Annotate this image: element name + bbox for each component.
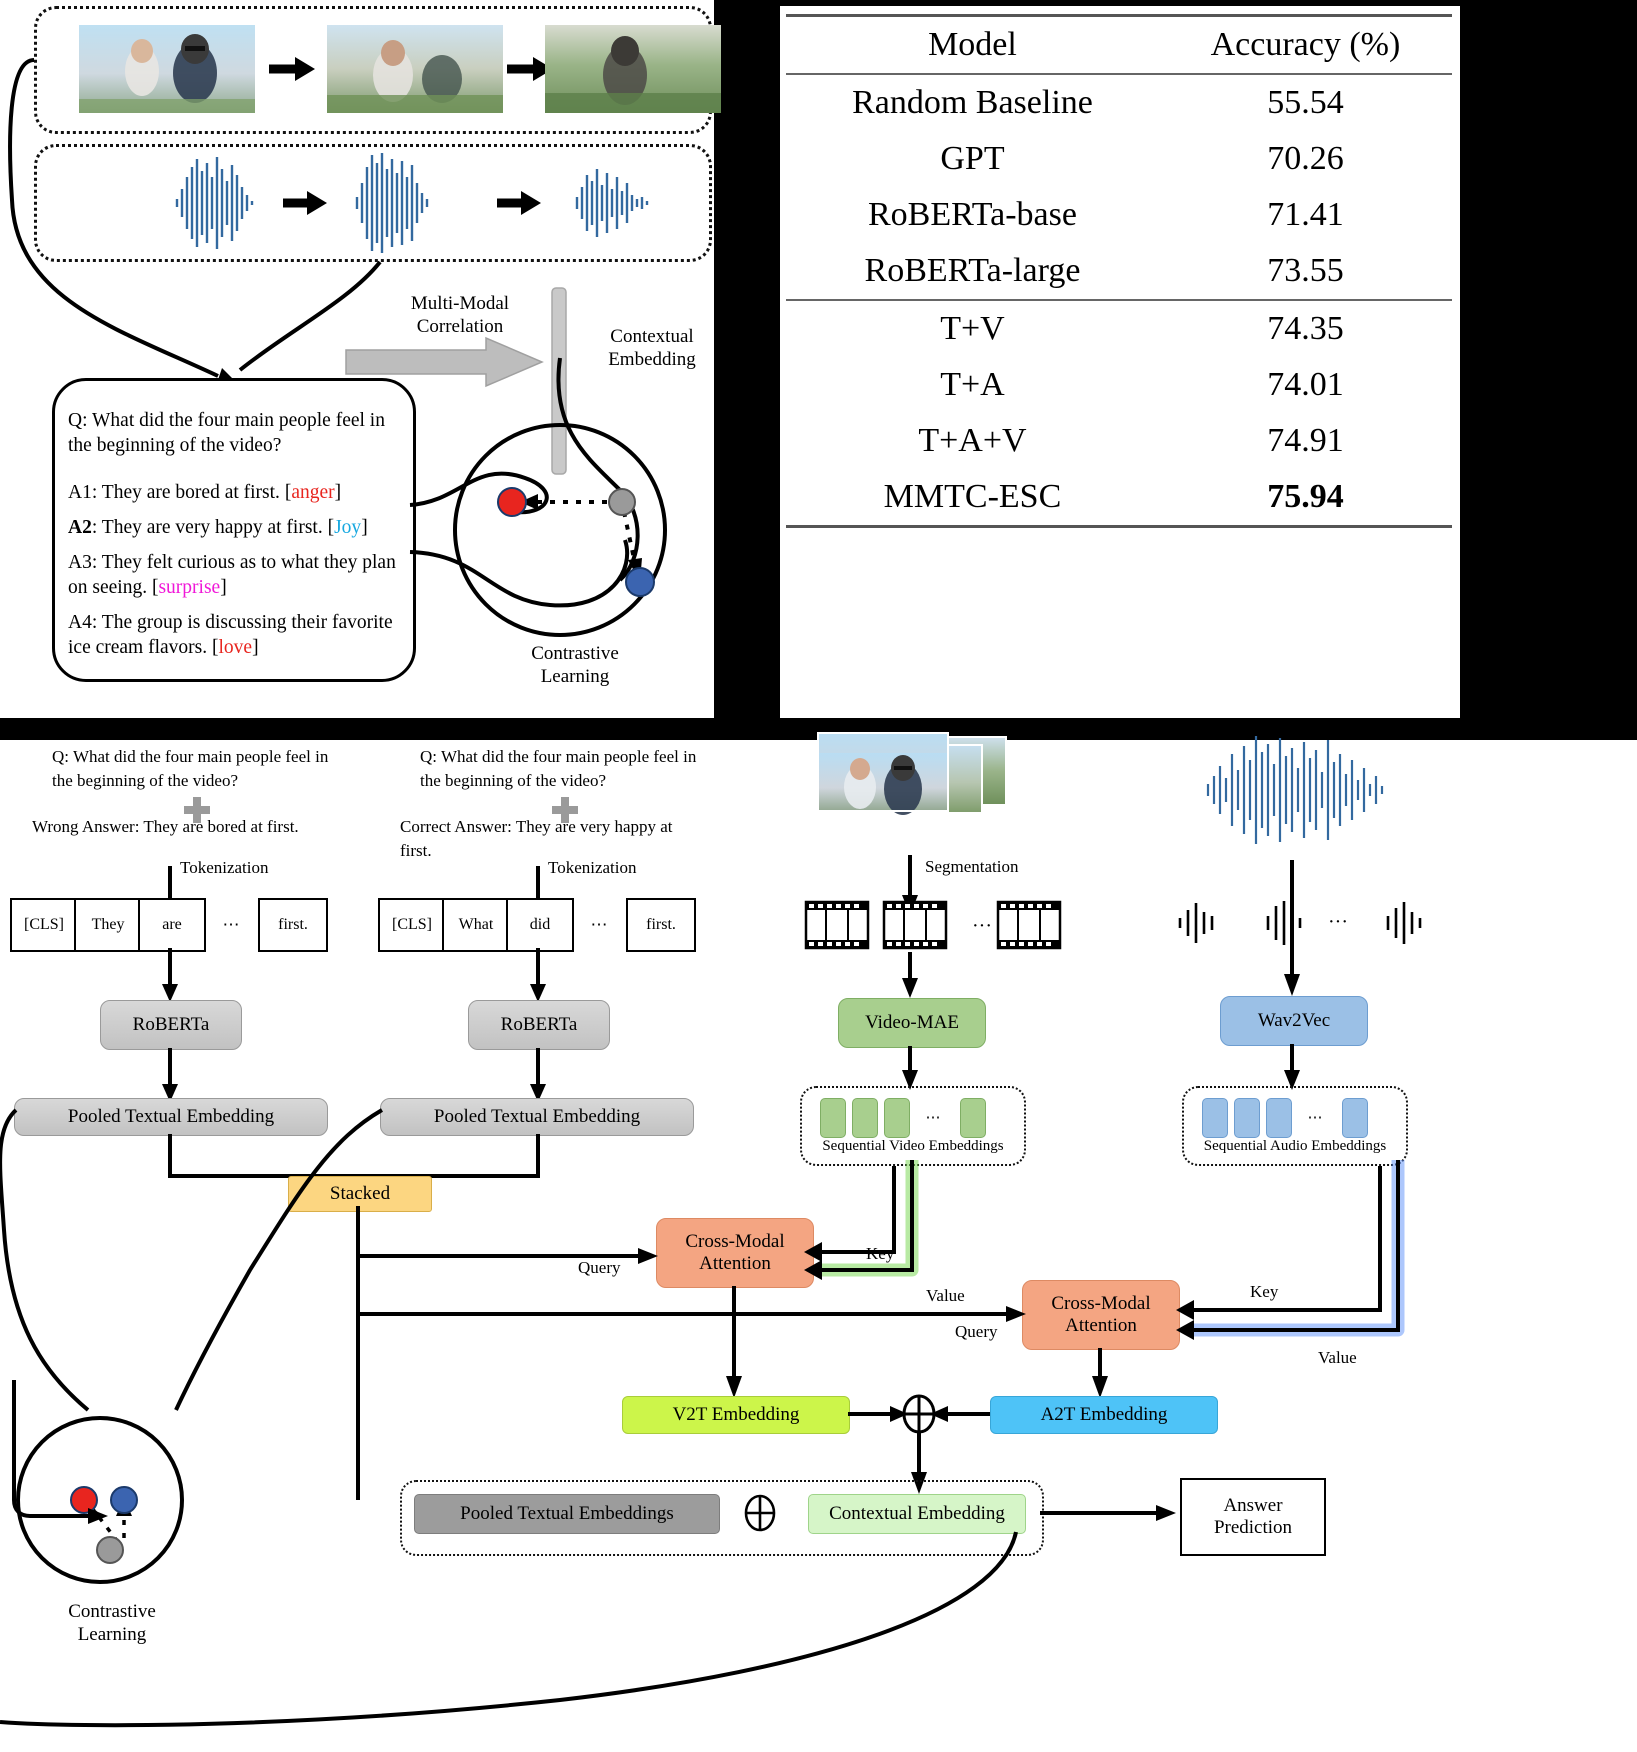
table-row: RoBERTa-large 73.55 xyxy=(786,243,1452,299)
qa-answer-3: A3: They felt curious as to what they pl… xyxy=(68,550,398,600)
answer-prediction-line2: Prediction xyxy=(1214,1517,1292,1539)
token-what-right: What xyxy=(442,898,508,952)
multimodal-correlation-label: Multi-Modal Correlation xyxy=(350,292,570,338)
qa-answer-3-text: They felt curious as to what they plan o… xyxy=(68,552,396,598)
video-mae-box: Video-MAE xyxy=(838,998,986,1048)
audio-waveform-input-icon xyxy=(1200,730,1420,850)
qa-answer-2-id: A2 xyxy=(68,517,92,538)
video-embedding-chip xyxy=(960,1098,986,1138)
table-cell-accuracy: 73.55 xyxy=(1159,243,1452,299)
table-row: RoBERTa-base 71.41 xyxy=(786,187,1452,243)
audio-embeddings-arrow-icon xyxy=(1272,1044,1312,1090)
contrastive-learning-top-line2: Learning xyxy=(490,665,660,688)
contextual-embedding-line2: Embedding xyxy=(582,348,722,371)
table-row: GPT 70.26 xyxy=(786,131,1452,187)
table-header-accuracy: Accuracy (%) xyxy=(1159,17,1452,73)
table-cell-model: RoBERTa-base xyxy=(786,187,1159,243)
token-are-left: are xyxy=(138,898,206,952)
video-embedding-chip xyxy=(820,1098,846,1138)
video-embedding-chip xyxy=(884,1098,910,1138)
sequential-video-embeddings-group: ⋯ Sequential Video Embeddings xyxy=(800,1086,1026,1166)
qa-answer-4: A4: The group is discussing their favori… xyxy=(68,610,398,660)
wav2vec-box: Wav2Vec xyxy=(1220,996,1368,1046)
table-cell-accuracy: 70.26 xyxy=(1159,131,1452,187)
right-branch-encoder-arrow-icon xyxy=(518,948,558,1002)
contextual-embedding-line1: Contextual xyxy=(582,325,722,348)
table-row: T+V 74.35 xyxy=(786,301,1452,357)
divider-right-edge xyxy=(1460,0,1637,718)
results-table: Model Accuracy (%) Random Baseline 55.54… xyxy=(786,14,1452,528)
token-first-left: first. xyxy=(258,898,328,952)
table-row: T+A+V 74.91 xyxy=(786,413,1452,469)
qa-answer-4-id: A4 xyxy=(68,612,92,633)
qa-answer-2-text: They are very happy at first. xyxy=(102,517,323,538)
answer-prediction-box: Answer Prediction xyxy=(1180,1478,1326,1556)
cross-modal-attention-2: Cross-Modal Attention xyxy=(1022,1280,1180,1350)
qa-content: Q: What did the four main people feel in… xyxy=(68,408,398,660)
table-cell-model: T+A xyxy=(786,357,1159,413)
table-cell-model: RoBERTa-large xyxy=(786,243,1159,299)
cma2-query-arrow-icon xyxy=(352,1276,1042,1336)
token-ellipsis-right: ⋯ xyxy=(578,902,620,948)
multimodal-correlation-line1: Multi-Modal xyxy=(350,292,570,315)
table-cell-model: T+A+V xyxy=(786,413,1159,469)
qa-answer-3-id: A3 xyxy=(68,552,92,573)
sequential-audio-embeddings-label: Sequential Audio Embeddings xyxy=(1184,1138,1406,1155)
table-cell-model: MMTC-ESC xyxy=(786,469,1159,525)
contrastive-learning-diagram-top xyxy=(420,420,700,670)
audio-embedding-chip xyxy=(1202,1098,1228,1138)
table-row: MMTC-ESC 75.94 xyxy=(786,469,1452,525)
cma1-query-label: Query xyxy=(578,1258,620,1278)
video-frames-stack-icon xyxy=(800,735,1030,865)
sequential-video-embeddings-label: Sequential Video Embeddings xyxy=(802,1138,1024,1155)
film-strip-icons: ··· xyxy=(806,902,1066,950)
audio-embedding-ellipsis: ⋯ xyxy=(1296,1104,1334,1130)
audio-segments-icon: ··· xyxy=(1176,898,1436,948)
token-did-right: did xyxy=(506,898,574,952)
qa-answer-1-id: A1 xyxy=(68,482,92,503)
table-row: T+A 74.01 xyxy=(786,357,1452,413)
qa-question: Q: What did the four main people feel in… xyxy=(68,408,398,458)
cross-modal-attention-2-line1: Cross-Modal xyxy=(1051,1293,1150,1315)
left-branch-question: Q: What did the four main people feel in… xyxy=(52,745,342,793)
table-cell-model: GPT xyxy=(786,131,1159,187)
cross-modal-attention-2-line2: Attention xyxy=(1065,1315,1137,1337)
table-cell-accuracy: 74.35 xyxy=(1159,301,1452,357)
token-they-left: They xyxy=(74,898,140,952)
table-cell-accuracy: 74.01 xyxy=(1159,357,1452,413)
table-header-model: Model xyxy=(786,17,1159,73)
table-cell-accuracy: 55.54 xyxy=(1159,75,1452,131)
right-branch-answer: Correct Answer: They are very happy at f… xyxy=(400,815,680,863)
contextual-feedback-path xyxy=(0,1380,1100,1752)
audio-embedding-chip xyxy=(1342,1098,1368,1138)
qa-answer-1-text: They are bored at first. xyxy=(102,482,280,503)
answer-prediction-line1: Answer xyxy=(1223,1495,1282,1517)
table-cell-accuracy: 75.94 xyxy=(1159,469,1452,525)
table-row: Random Baseline 55.54 xyxy=(786,75,1452,131)
table-cell-accuracy: 74.91 xyxy=(1159,413,1452,469)
audio-embedding-chip xyxy=(1266,1098,1292,1138)
qa-answer-2: A2: They are very happy at first. [Joy] xyxy=(68,515,398,540)
contextual-embedding-label: Contextual Embedding xyxy=(582,325,722,371)
qa-answer-2-emotion: Joy xyxy=(334,517,361,538)
token-cls-right: [CLS] xyxy=(378,898,444,952)
left-branch-pooled-arrow-icon xyxy=(150,1048,190,1102)
video-segmentation-label: Segmentation xyxy=(925,857,1018,877)
qa-answer-1-emotion: anger xyxy=(291,482,334,503)
roberta-right: RoBERTa xyxy=(468,1000,610,1050)
sequential-audio-embeddings-group: ⋯ Sequential Audio Embeddings xyxy=(1182,1086,1408,1166)
cma2-key-value-arrows-icon xyxy=(1160,1160,1420,1360)
divider-vertical-top xyxy=(714,0,780,718)
qa-answer-1: A1: They are bored at first. [anger] xyxy=(68,480,398,505)
contrastive-learning-top-line1: Contrastive xyxy=(490,642,660,665)
token-cls-left: [CLS] xyxy=(10,898,76,952)
table-header-row: Model Accuracy (%) xyxy=(786,17,1452,73)
cma2-query-label: Query xyxy=(955,1322,997,1342)
svg-text:···: ··· xyxy=(972,915,992,937)
token-first-right: first. xyxy=(626,898,696,952)
table-cell-model: T+V xyxy=(786,301,1159,357)
right-branch-tokenization-label: Tokenization xyxy=(548,858,637,878)
cma2-key-label: Key xyxy=(1250,1282,1278,1302)
multimodal-correlation-line2: Correlation xyxy=(350,315,570,338)
divider-top-edge xyxy=(780,0,1460,6)
left-branch-answer: Wrong Answer: They are bored at first. xyxy=(32,815,312,839)
table-rule-bottom xyxy=(786,525,1452,528)
left-branch-tokenization-label: Tokenization xyxy=(180,858,269,878)
table-cell-model: Random Baseline xyxy=(786,75,1159,131)
qa-answer-4-emotion: love xyxy=(219,637,253,658)
cross-modal-attention-1-line1: Cross-Modal xyxy=(685,1231,784,1253)
left-branch-encoder-arrow-icon xyxy=(150,948,190,1002)
svg-text:···: ··· xyxy=(1328,911,1348,933)
right-branch-pooled-arrow-icon xyxy=(518,1048,558,1102)
roberta-left: RoBERTa xyxy=(100,1000,242,1050)
video-embedding-ellipsis: ⋯ xyxy=(914,1104,952,1130)
token-ellipsis-left: ⋯ xyxy=(210,902,252,948)
stacked-bus-lines xyxy=(340,1210,380,1510)
cma1-key-label: Key xyxy=(866,1244,894,1264)
figure-canvas: Multi-Modal Correlation Contextual Embed… xyxy=(0,0,1637,1752)
audio-embedding-chip xyxy=(1234,1098,1260,1138)
right-branch-question: Q: What did the four main people feel in… xyxy=(420,745,710,793)
video-encoder-arrow-icon xyxy=(890,952,930,998)
cross-modal-attention-1-line2: Attention xyxy=(699,1253,771,1275)
cma2-value-label: Value xyxy=(1318,1348,1357,1368)
video-embeddings-arrow-icon xyxy=(890,1046,930,1090)
qa-answer-3-emotion: surprise xyxy=(158,577,220,598)
video-embedding-chip xyxy=(852,1098,878,1138)
table-cell-accuracy: 71.41 xyxy=(1159,187,1452,243)
contrastive-learning-label-top: Contrastive Learning xyxy=(490,642,660,688)
